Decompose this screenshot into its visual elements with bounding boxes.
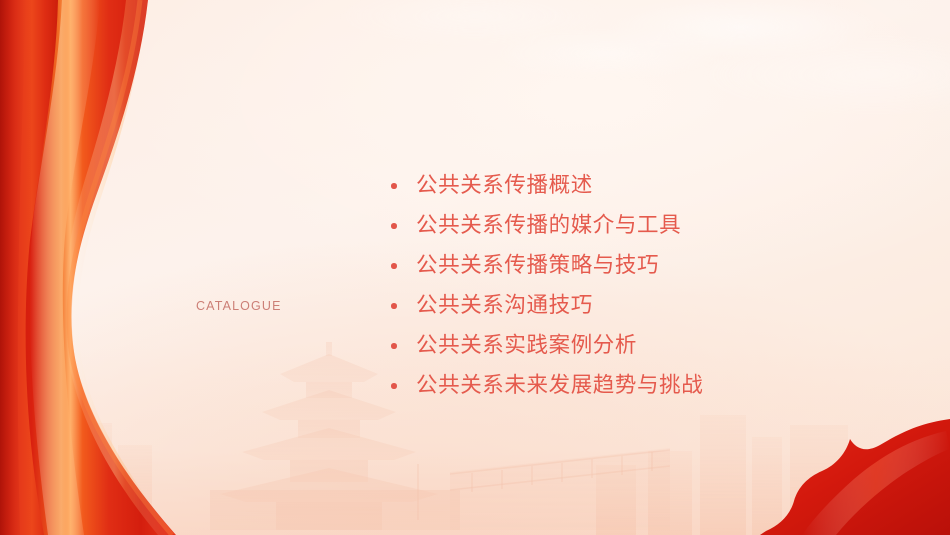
toc-item-6[interactable]: 公共关系未来发展趋势与挑战: [386, 366, 806, 406]
toc-item-label: 公共关系实践案例分析: [416, 333, 637, 358]
toc-item-3[interactable]: 公共关系传播策略与技巧: [386, 246, 806, 286]
red-silk-ribbon: [0, 0, 230, 535]
bullet-icon: [391, 263, 397, 269]
toc-item-label: 公共关系未来发展趋势与挑战: [416, 373, 703, 398]
toc-item-label: 公共关系传播的媒介与工具: [416, 213, 681, 238]
toc-item-5[interactable]: 公共关系实践案例分析: [386, 326, 806, 366]
bullet-icon: [391, 303, 397, 309]
bullet-icon: [391, 383, 397, 389]
toc-item-2[interactable]: 公共关系传播的媒介与工具: [386, 206, 806, 246]
toc-item-label: 公共关系沟通技巧: [416, 293, 593, 318]
bullet-icon: [391, 223, 397, 229]
red-flag-corner: [750, 405, 950, 535]
catalogue-slide: CATALOGUE 公共关系传播概述 公共关系传播的媒介与工具 公共关系传播策略…: [0, 0, 950, 535]
catalogue-label: CATALOGUE: [196, 299, 282, 313]
bullet-icon: [391, 183, 397, 189]
toc-item-label: 公共关系传播概述: [416, 173, 593, 198]
bullet-icon: [391, 343, 397, 349]
toc-item-label: 公共关系传播策略与技巧: [416, 253, 659, 278]
toc-item-1[interactable]: 公共关系传播概述: [386, 166, 806, 206]
toc-item-4[interactable]: 公共关系沟通技巧: [386, 286, 806, 326]
table-of-contents: 公共关系传播概述 公共关系传播的媒介与工具 公共关系传播策略与技巧 公共关系沟通…: [386, 166, 806, 406]
